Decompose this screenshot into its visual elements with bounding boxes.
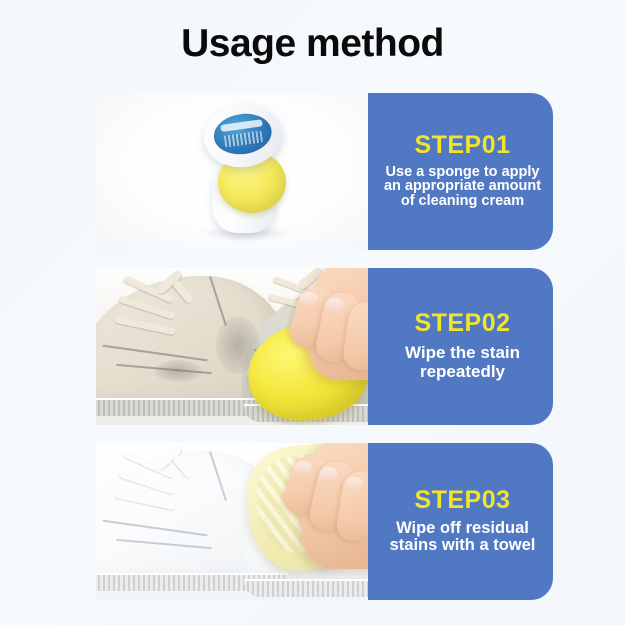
shoe-front-sole (244, 579, 372, 597)
fingernail-1 (300, 292, 318, 305)
jar-label-icon (211, 110, 274, 158)
product-jar-scene (96, 93, 372, 250)
step-2-description: Wipe the stain repeatedly (378, 343, 547, 381)
dirt-stain-4 (154, 360, 202, 382)
fingernail-1 (294, 461, 312, 474)
fingernail-2 (326, 298, 344, 311)
step-2-label: STEP02 (414, 309, 510, 337)
step-card-3[interactable]: STEP03 Wipe off residual stains with a t… (96, 443, 553, 600)
step-1-panel: STEP01 Use a sponge to apply an appropri… (372, 93, 553, 250)
steps-list: STEP01 Use a sponge to apply an appropri… (96, 93, 553, 618)
step-1-label: STEP01 (414, 131, 510, 159)
step-2-photo (96, 268, 372, 425)
step-card-2[interactable]: STEP02 Wipe the stain repeatedly (96, 268, 553, 425)
step-card-1[interactable]: STEP01 Use a sponge to apply an appropri… (96, 93, 553, 250)
step-2-panel: STEP02 Wipe the stain repeatedly (372, 268, 553, 425)
dirty-shoes-scene (96, 268, 372, 425)
step-3-description: Wipe off residual stains with a towel (378, 520, 547, 554)
step-3-label: STEP03 (414, 486, 510, 514)
step-3-panel: STEP03 Wipe off residual stains with a t… (372, 443, 553, 600)
step-1-photo (96, 93, 372, 250)
fingernail-2 (320, 467, 338, 480)
clean-shoes-scene (96, 443, 372, 600)
step-3-photo (96, 443, 372, 600)
step-1-description: Use a sponge to apply an appropriate amo… (378, 165, 547, 209)
fingernail-3 (346, 477, 363, 489)
page-title: Usage method (0, 21, 625, 67)
